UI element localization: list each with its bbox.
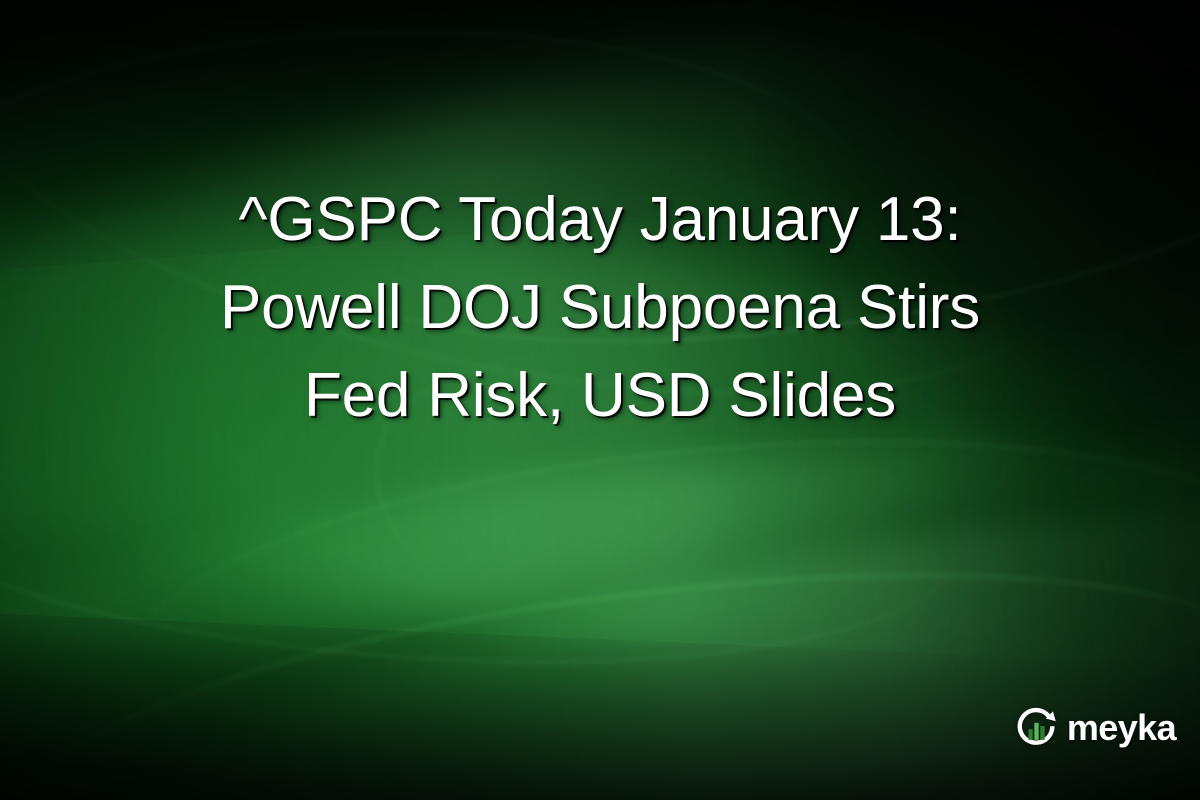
headline-line-3: Fed Risk, USD Slides	[304, 352, 896, 440]
article-banner: ^GSPC Today January 13: Powell DOJ Subpo…	[0, 0, 1200, 800]
meyka-logo[interactable]: meyka	[1014, 702, 1176, 754]
headline-line-1: ^GSPC Today January 13:	[239, 176, 962, 264]
logo-brand-name: meyka	[1067, 710, 1176, 746]
headline-block: ^GSPC Today January 13: Powell DOJ Subpo…	[0, 176, 1200, 440]
circular-arrow-bar-chart-icon	[1014, 705, 1060, 751]
headline-line-2: Powell DOJ Subpoena Stirs	[220, 264, 980, 352]
